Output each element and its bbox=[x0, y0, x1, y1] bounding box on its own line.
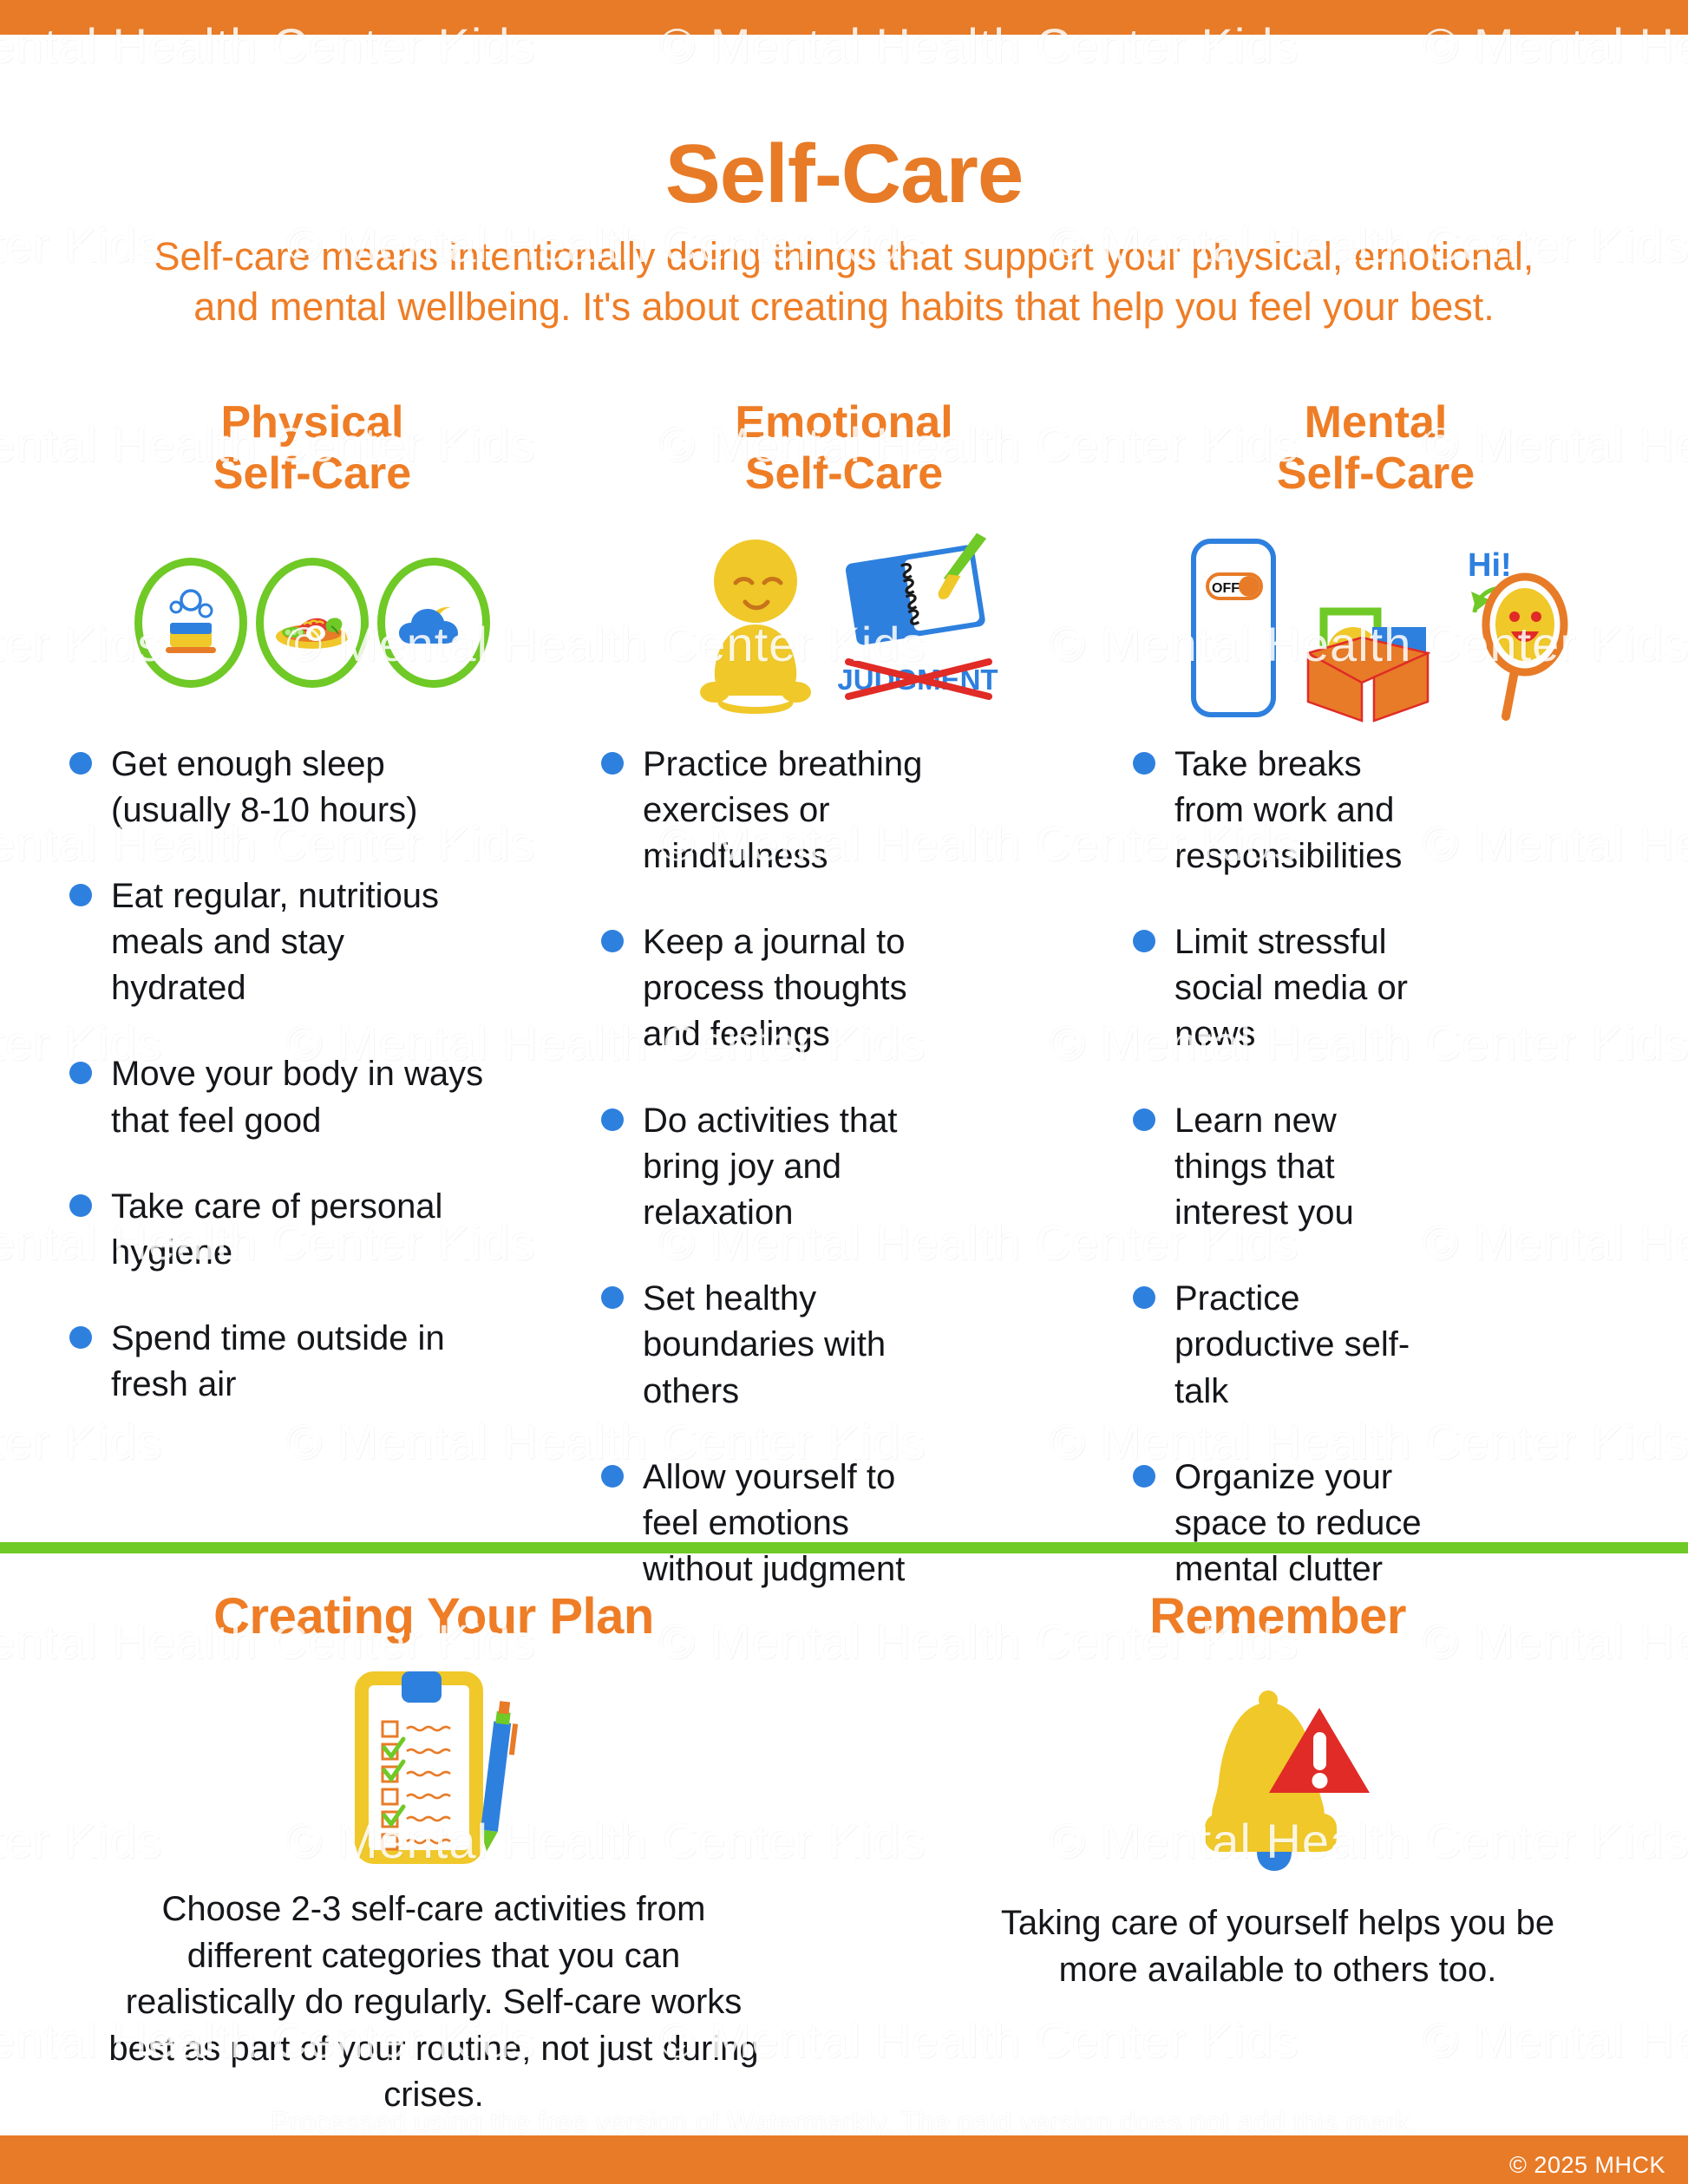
column-title-mental: Mental Self-Care bbox=[1133, 397, 1619, 500]
phone-off-label: OFF bbox=[1212, 581, 1240, 596]
healthy-plate-icon bbox=[256, 558, 369, 688]
list-item: Set healthy boundaries with others bbox=[601, 1276, 1087, 1415]
intro-paragraph: Self-care means intentionally doing thin… bbox=[117, 232, 1571, 331]
bullet-dot bbox=[69, 1326, 92, 1349]
section-remember: Remember Taking care of yourself helps y… bbox=[867, 1587, 1688, 2119]
list-item: Move your body in ways that feel good bbox=[69, 1051, 555, 1143]
list-item: Spend time outside in fresh air bbox=[69, 1316, 555, 1408]
column-title-physical: Physical Self-Care bbox=[69, 397, 555, 500]
green-divider bbox=[0, 1542, 1688, 1553]
list-item: Take breaks from work and responsibiliti… bbox=[1133, 742, 1619, 880]
column-physical: Physical Self-Care bbox=[69, 382, 555, 1509]
section-body-plan: Choose 2-3 self-care activities from dif… bbox=[104, 1886, 763, 2119]
bullet-dot bbox=[1133, 1108, 1155, 1131]
bullet-dot bbox=[601, 752, 624, 775]
section-creating-your-plan: Creating Your Plan bbox=[0, 1587, 867, 2119]
phone-off-toggle-icon: OFF bbox=[1181, 536, 1286, 723]
bullet-dot bbox=[601, 1108, 624, 1131]
moon-cloud-icon bbox=[377, 558, 490, 688]
watermarkly-note: Processed using the free version of Wate… bbox=[0, 2106, 1688, 2139]
top-orange-bar bbox=[0, 0, 1688, 35]
open-box-icon bbox=[1289, 558, 1445, 723]
bottom-orange-bar bbox=[0, 2135, 1688, 2184]
list-item: Practice productive self-talk bbox=[1133, 1276, 1619, 1415]
section-body-remember: Taking care of yourself helps you be mor… bbox=[983, 1900, 1573, 1993]
list-item: Eat regular, nutritious meals and stay h… bbox=[69, 873, 555, 1012]
bullet-dot bbox=[69, 752, 92, 775]
physical-bullet-list: Get enough sleep (usually 8-10 hours) Ea… bbox=[69, 742, 555, 1409]
judgment-crossed-out-icon: JUDGMENT bbox=[840, 651, 996, 705]
emotional-icon-row: JUDGMENT bbox=[601, 523, 1087, 723]
list-item: Do activities that bring joy and relaxat… bbox=[601, 1098, 1087, 1237]
mirror-greeting: Hi! bbox=[1468, 547, 1512, 584]
list-item: Learn new things that interest you bbox=[1133, 1098, 1619, 1237]
column-title-emotional: Emotional Self-Care bbox=[601, 397, 1087, 500]
list-item: Allow yourself to feel emotions without … bbox=[601, 1455, 1087, 1593]
mental-icon-row: OFF Hi! bbox=[1133, 523, 1619, 723]
physical-icon-row bbox=[69, 523, 555, 723]
meditating-person-icon bbox=[692, 529, 831, 716]
section-title-remember: Remember bbox=[867, 1587, 1688, 1645]
bathtub-bubbles-icon bbox=[134, 558, 247, 688]
bell-alert-icon bbox=[1174, 1687, 1382, 1869]
bullet-dot bbox=[1133, 1465, 1155, 1488]
mental-bullet-list: Take breaks from work and responsibiliti… bbox=[1133, 742, 1619, 1593]
list-item: Get enough sleep (usually 8-10 hours) bbox=[69, 742, 555, 834]
list-item: Take care of personal hygiene bbox=[69, 1184, 555, 1276]
journal-pencil-icon bbox=[840, 539, 996, 648]
bullet-dot bbox=[601, 1465, 624, 1488]
bullet-dot bbox=[601, 930, 624, 952]
list-item: Practice breathing exercises or mindfuln… bbox=[601, 742, 1087, 880]
clipboard-checklist-pen-icon bbox=[334, 1668, 533, 1867]
list-item: Organize your space to reduce mental clu… bbox=[1133, 1455, 1619, 1593]
list-item: Limit stressful social media or news bbox=[1133, 919, 1619, 1058]
self-care-columns: Physical Self-Care bbox=[0, 382, 1688, 1509]
bullet-dot bbox=[601, 1286, 624, 1309]
lower-sections: Creating Your Plan bbox=[0, 1587, 1688, 2119]
column-mental: Mental Self-Care OFF bbox=[1133, 382, 1619, 1509]
section-title-plan: Creating Your Plan bbox=[0, 1587, 867, 1645]
emotional-bullet-list: Practice breathing exercises or mindfuln… bbox=[601, 742, 1087, 1593]
column-emotional: Emotional Self-Care bbox=[601, 382, 1087, 1509]
bullet-dot bbox=[1133, 1286, 1155, 1309]
list-item: Keep a journal to process thoughts and f… bbox=[601, 919, 1087, 1058]
infographic-page: Self-Care Self-care means intentionally … bbox=[0, 0, 1688, 2184]
bullet-dot bbox=[69, 1194, 92, 1217]
bullet-dot bbox=[69, 884, 92, 906]
page-title: Self-Care bbox=[0, 127, 1688, 222]
copyright-label: © 2025 MHCK bbox=[1509, 2152, 1665, 2179]
bullet-dot bbox=[69, 1062, 92, 1084]
bullet-dot bbox=[1133, 752, 1155, 775]
bullet-dot bbox=[1133, 930, 1155, 952]
hand-mirror-smile-icon: Hi! bbox=[1449, 545, 1570, 723]
